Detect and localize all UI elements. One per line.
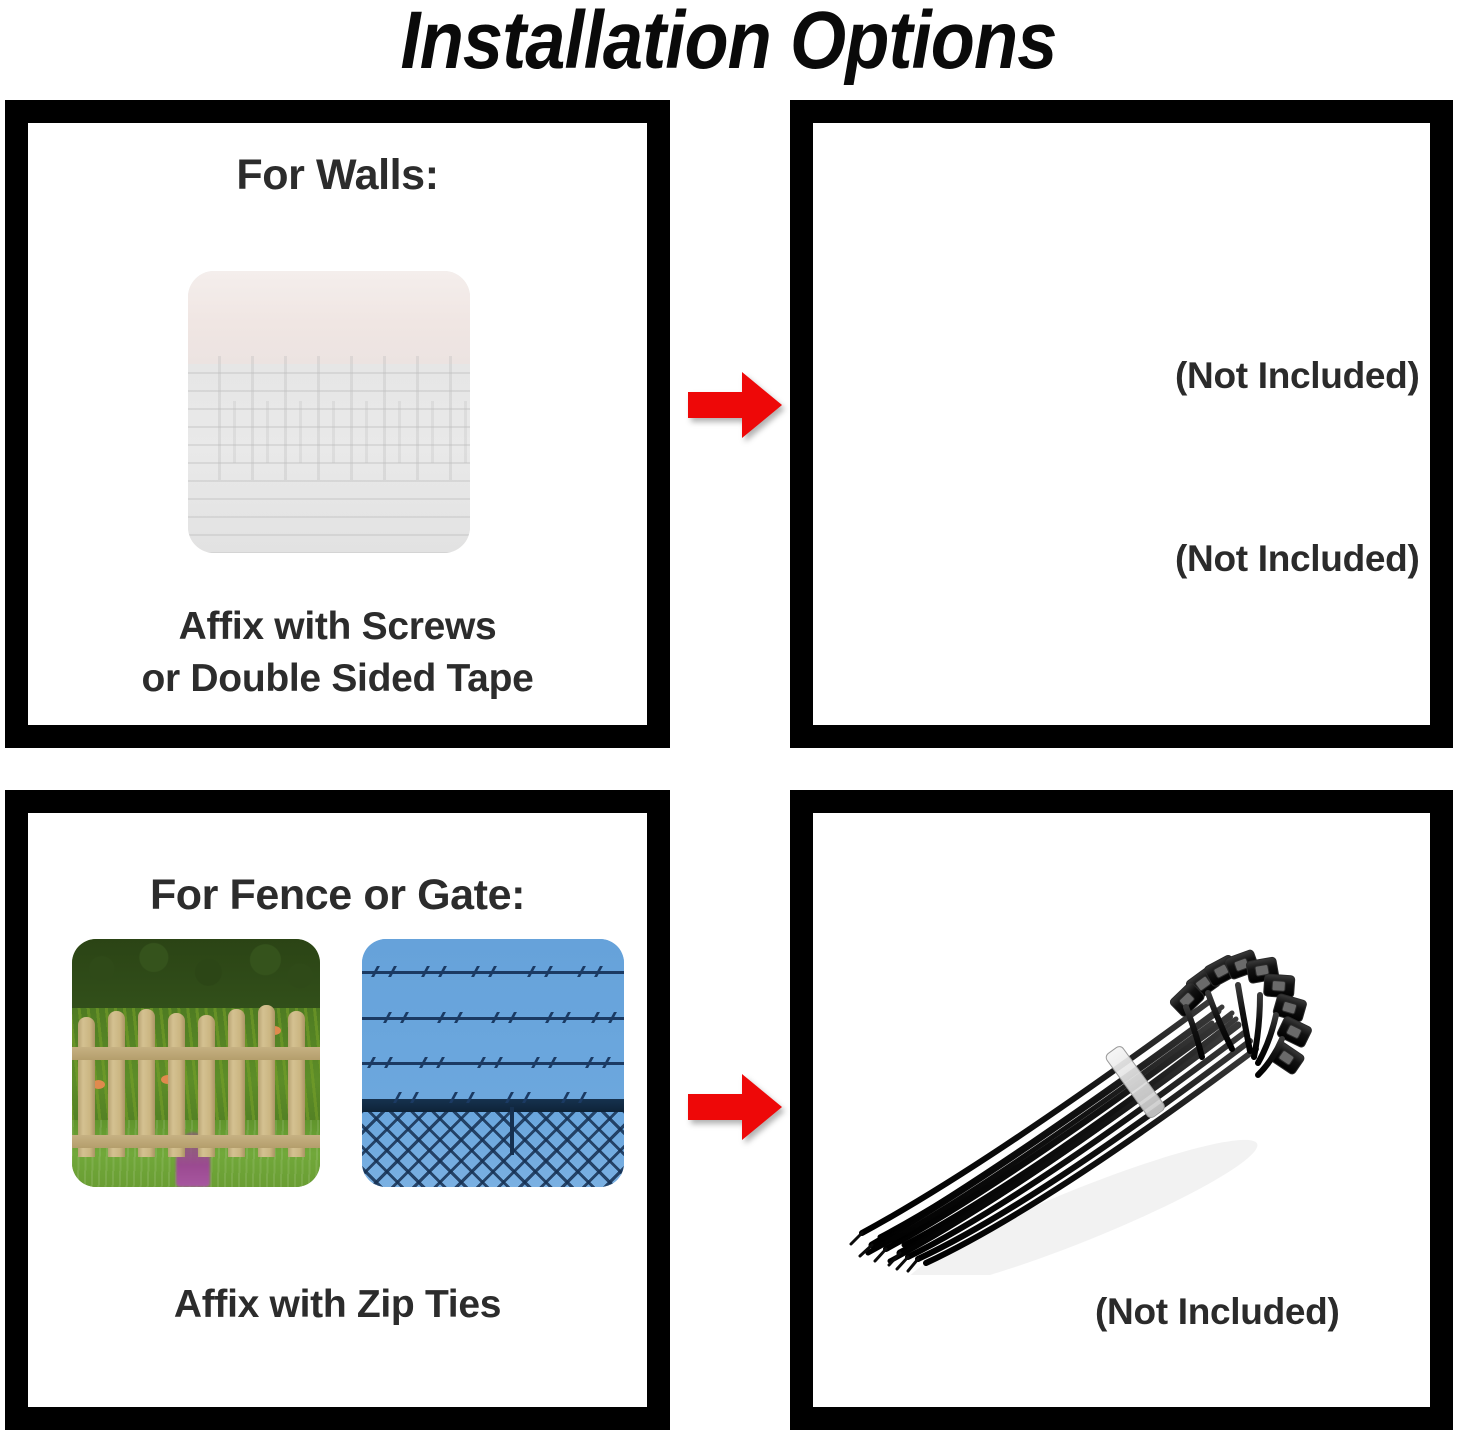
black-zip-ties-bundle-image (846, 915, 1326, 1275)
panel-for-fence-or-gate: For Fence or Gate: (5, 790, 670, 1430)
panel-fence-hardware: (Not Included) (790, 790, 1453, 1430)
arrow-right-icon (686, 1068, 784, 1146)
tape-not-included-label: (Not Included) (1175, 355, 1419, 397)
wooden-picket-fence-photo (72, 939, 320, 1187)
chain-link-mesh (362, 1112, 624, 1187)
fence-rail-upper (72, 1047, 320, 1060)
panel-heading-fence: For Fence or Gate: (28, 871, 647, 920)
panel-caption-walls-line2: or Double Sided Tape (28, 653, 647, 704)
fence-rail-lower (72, 1135, 320, 1148)
brick-mortar-verts-offset (203, 401, 470, 463)
hedge-background (72, 939, 320, 1013)
fence-post (510, 1107, 514, 1155)
brick-top-region (188, 271, 470, 364)
wall-photo-white-brick (188, 271, 470, 553)
screws-not-included-label: (Not Included) (1175, 538, 1419, 580)
panel-heading-walls: For Walls: (28, 151, 647, 200)
panel-caption-walls-line1: Affix with Screws (28, 601, 647, 652)
ziptie-not-included-label: (Not Included) (1095, 1291, 1339, 1333)
panel-for-walls: For Walls: Affix with Screws or Double S… (5, 100, 670, 748)
page-title: Installation Options (87, 0, 1369, 84)
panel-caption-fence: Affix with Zip Ties (28, 1279, 647, 1330)
chain-link-barbed-wire-photo (362, 939, 624, 1187)
arrow-right-icon (686, 366, 784, 444)
panel-wall-hardware: (Not Included) (790, 100, 1453, 748)
